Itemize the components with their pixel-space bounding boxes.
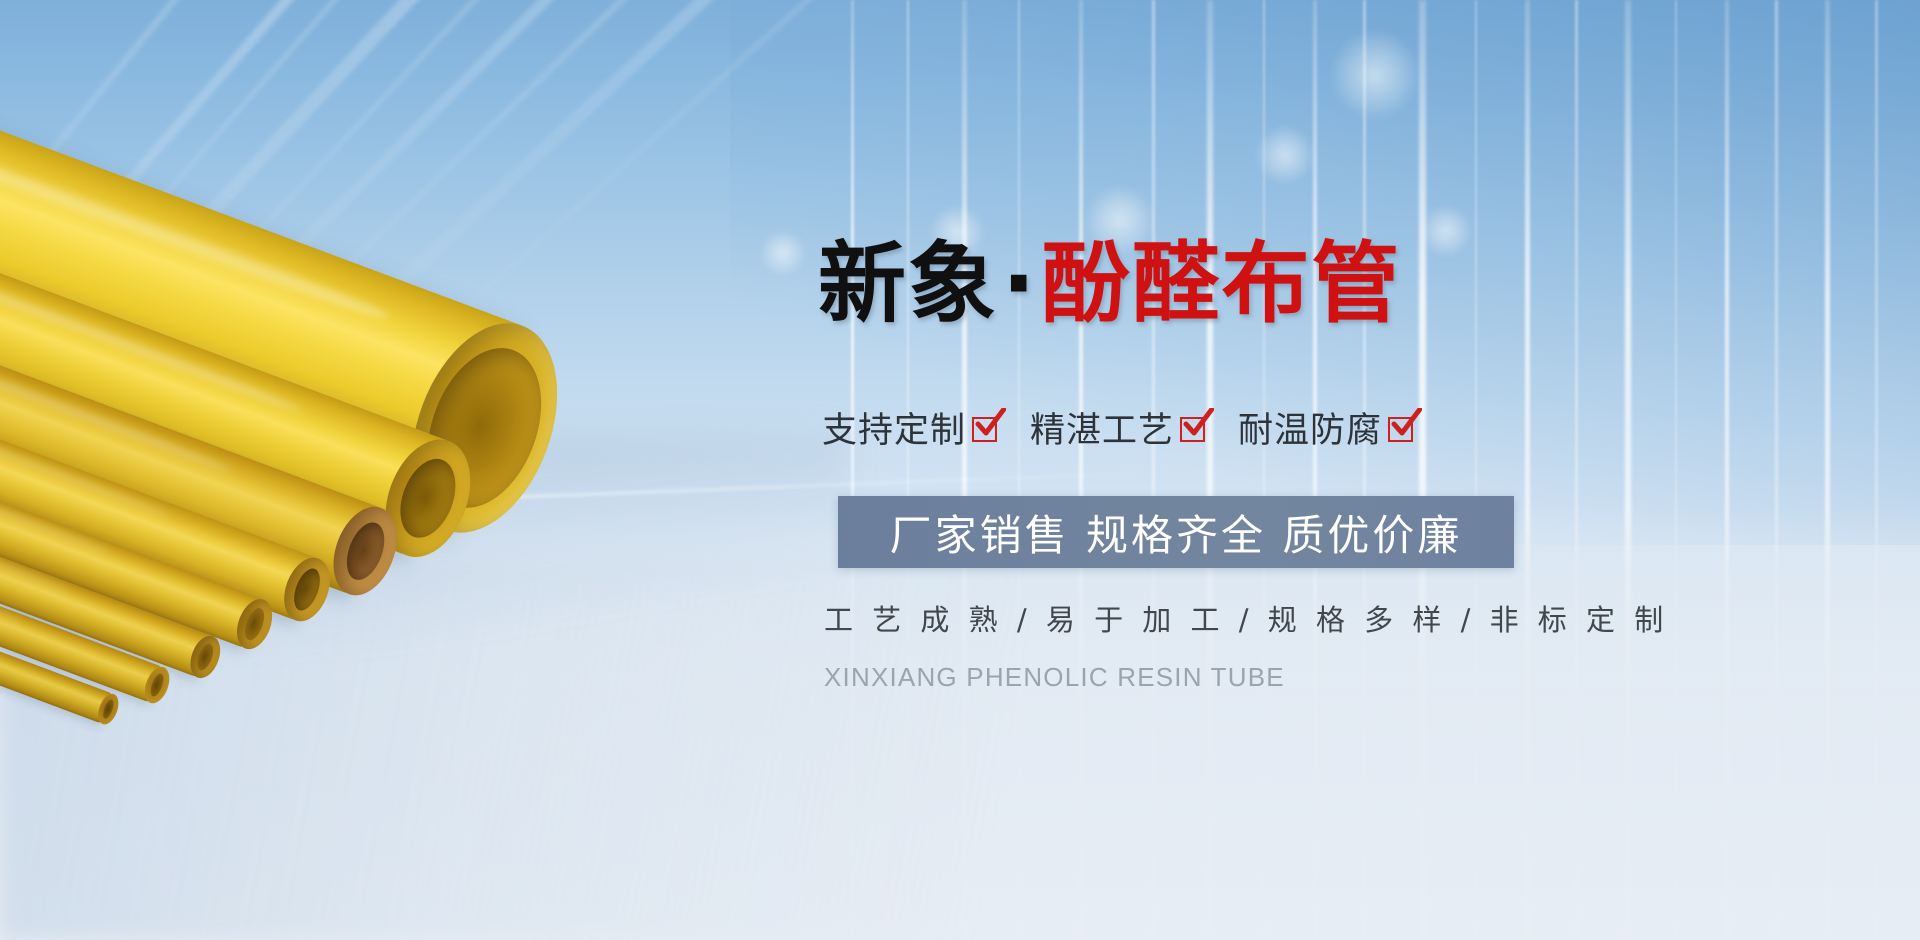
banner-root: 新象·酚醛布管 支持定制 精湛工艺 耐温防腐	[0, 0, 1920, 940]
english-tagline: XINXIANG PHENOLIC RESIN TUBE	[824, 662, 1584, 693]
checkbox-check-icon	[972, 413, 1002, 443]
headline-product: 酚醛布管	[1041, 232, 1401, 335]
feature-label-1: 支持定制	[822, 402, 966, 453]
spec-list: 工 艺 成 熟 / 易 于 加 工 / 规 格 多 样 / 非 标 定 制	[824, 597, 1584, 639]
checkbox-check-icon	[1388, 413, 1418, 443]
headline-brand: 新象	[818, 232, 998, 335]
phenolic-resin-tubes-photo	[0, 0, 680, 720]
bokeh-5	[760, 230, 806, 276]
check-mark-glyph	[1390, 408, 1422, 438]
check-mark-glyph	[1182, 408, 1214, 438]
feature-label-3: 耐温防腐	[1238, 402, 1382, 453]
headline-separator: ·	[998, 232, 1041, 335]
checkbox-check-icon	[1180, 413, 1210, 443]
feature-badges-row: 支持定制 精湛工艺 耐温防腐	[822, 402, 1582, 453]
highlight-bar: 厂家销售 规格齐全 质优价廉	[838, 496, 1514, 568]
check-mark-glyph	[974, 408, 1006, 438]
feature-label-2: 精湛工艺	[1030, 402, 1174, 453]
banner-text-content: 新象·酚醛布管 支持定制 精湛工艺 耐温防腐	[818, 0, 1578, 940]
highlight-bar-text: 厂家销售 规格齐全 质优价廉	[890, 502, 1463, 563]
headline: 新象·酚醛布管	[818, 240, 1578, 328]
